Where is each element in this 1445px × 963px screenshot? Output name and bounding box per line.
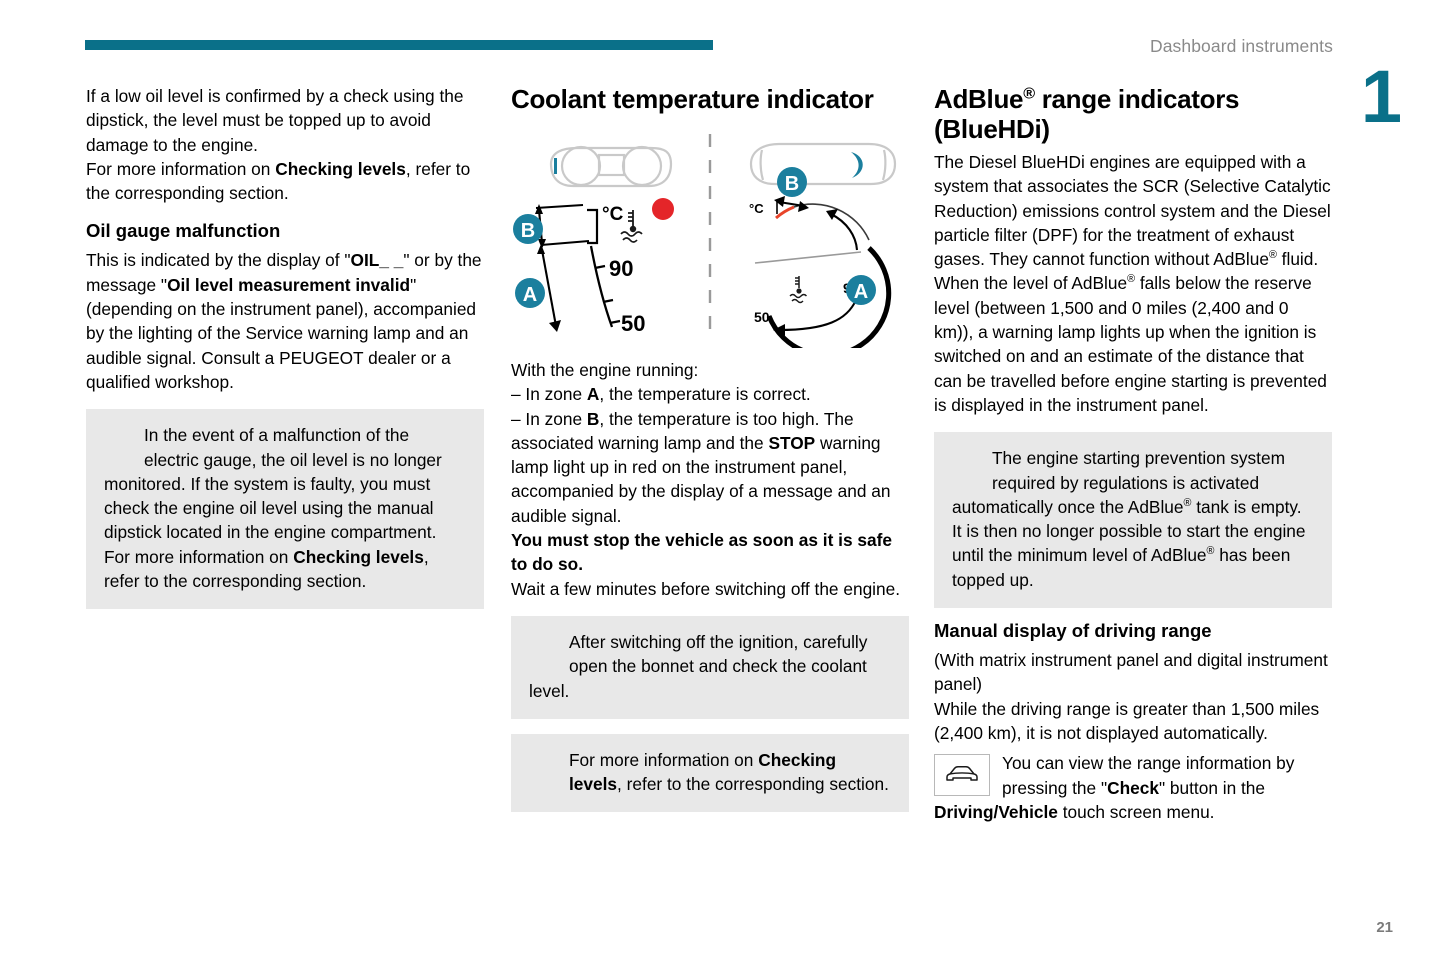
malfunction-part1: This is indicated by the display of " <box>86 250 351 270</box>
middle-info-callout: For more information on Checking levels,… <box>511 734 909 813</box>
oil-level-paragraph: If a low oil level is confirmed by a che… <box>86 84 484 157</box>
bullet-dash-a: – <box>511 384 521 404</box>
adblue-reserve-paragraph: When the level of AdBlue® falls below th… <box>934 271 1332 417</box>
ref-pre: For more information on <box>86 159 275 179</box>
header-accent-rule <box>85 40 713 50</box>
middle-warning-text: After switching off the ignition, carefu… <box>529 632 867 701</box>
zone-b-bullet: – In zone B, the temperature is too high… <box>511 407 909 528</box>
warning-text-3-bold: Checking levels <box>293 547 424 567</box>
info-i-icon <box>533 750 563 794</box>
check-note-mid: " button in the <box>1159 778 1265 798</box>
svg-text:°C: °C <box>602 204 624 225</box>
coolant-temperature-gauge-illustration: °C <box>511 130 909 348</box>
check-note-post: touch screen menu. <box>1058 802 1215 822</box>
chapter-number: 1 <box>1361 60 1400 134</box>
adblue-intro-paragraph: The Diesel BlueHDi engines are equipped … <box>934 150 1332 271</box>
oil-gauge-malfunction-heading: Oil gauge malfunction <box>86 219 484 243</box>
adblue-range-indicators-title: AdBlue® range indicators (BlueHDi) <box>934 84 1332 144</box>
middle-column: Coolant temperature indicator <box>511 84 909 812</box>
stop-vehicle-bold-warning: You must stop the vehicle as soon as it … <box>511 528 909 577</box>
oil-code: OIL_ _ <box>351 250 404 270</box>
right-warning-callout: The engine starting prevention system re… <box>934 432 1332 608</box>
info-text-pre: For more information on <box>569 750 758 770</box>
zone-a-bullet: – In zone A, the temperature is correct. <box>511 382 909 406</box>
warning-exclamation-icon <box>956 448 986 492</box>
page-number: 21 <box>1376 919 1393 936</box>
oil-gauge-malfunction-text: This is indicated by the display of "OIL… <box>86 248 484 394</box>
svg-text:B: B <box>521 220 535 242</box>
svg-text:°C: °C <box>749 201 764 216</box>
bullet-a-post: , the temperature is correct. <box>599 384 810 404</box>
info-text-post: , refer to the corresponding section. <box>617 774 889 794</box>
registered-mark: ® <box>1269 249 1277 261</box>
warning-text-3-pre: For more information on <box>104 547 293 567</box>
engine-running-intro: With the engine running: <box>511 358 909 382</box>
checking-levels-reference: For more information on Checking levels,… <box>86 157 484 206</box>
manual-display-condition: (With matrix instrument panel and digita… <box>934 648 1332 697</box>
middle-warning-callout: After switching off the ignition, carefu… <box>511 616 909 719</box>
adblue-p1b: fluid. <box>1277 249 1318 269</box>
driving-vehicle-menu-label: Driving/Vehicle <box>934 802 1058 822</box>
zone-b-label: B <box>587 409 599 429</box>
bullet-b-pre: In zone <box>521 409 587 429</box>
car-button-icon[interactable] <box>934 754 990 796</box>
bullet-a-pre: In zone <box>521 384 587 404</box>
manual-page: Dashboard instruments 1 21 If a low oil … <box>0 0 1445 963</box>
oil-message-bold: Oil level measurement invalid <box>167 275 410 295</box>
registered-mark: ® <box>1023 84 1035 102</box>
warning-exclamation-icon <box>108 425 138 469</box>
left-warning-callout: In the event of a malfunction of the ele… <box>86 409 484 609</box>
bullet-dash-b: – <box>511 409 521 429</box>
svg-text:50: 50 <box>621 311 645 336</box>
svg-text:B: B <box>785 173 799 195</box>
adblue-p2b: falls below the reserve level (between 1… <box>934 273 1327 414</box>
check-button-label: Check <box>1107 778 1159 798</box>
svg-text:A: A <box>523 284 537 306</box>
ref-bold: Checking levels <box>275 159 406 179</box>
svg-text:50: 50 <box>754 309 770 325</box>
zone-a-label: A <box>587 384 599 404</box>
svg-text:A: A <box>854 281 868 303</box>
stop-warning-label: STOP <box>768 433 815 453</box>
stop-vehicle-text: You must stop the vehicle as soon as it … <box>511 530 892 574</box>
coolant-temperature-title: Coolant temperature indicator <box>511 84 909 114</box>
page-header-title: Dashboard instruments <box>1150 36 1333 57</box>
manual-display-heading: Manual display of driving range <box>934 619 1332 643</box>
registered-mark: ® <box>1127 274 1135 286</box>
driving-range-threshold: While the driving range is greater than … <box>934 697 1332 746</box>
check-button-note: You can view the range information by pr… <box>934 751 1332 824</box>
adblue-p2a: When the level of AdBlue <box>934 273 1127 293</box>
title-pre: AdBlue <box>934 84 1023 114</box>
right-column: AdBlue® range indicators (BlueHDi) The D… <box>934 84 1332 824</box>
wait-before-switching-off: Wait a few minutes before switching off … <box>511 577 909 601</box>
svg-text:90: 90 <box>609 256 633 281</box>
left-column: If a low oil level is confirmed by a che… <box>86 84 484 609</box>
warning-exclamation-icon <box>533 632 563 676</box>
